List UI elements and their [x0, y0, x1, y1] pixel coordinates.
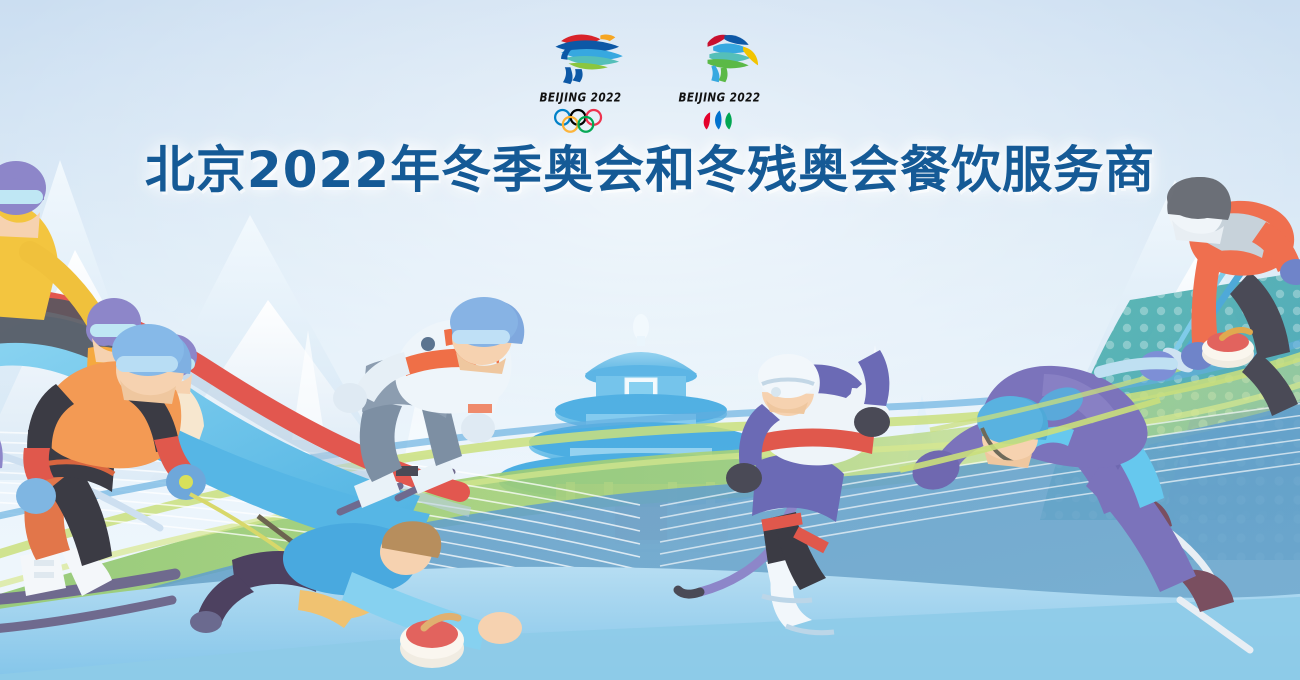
agitos-icon [672, 107, 767, 133]
page-title: 北京2022年冬季奥会和冬残奥会餐饮服务商 [145, 143, 1155, 197]
olympic-banner: BEIJING 2022 [0, 0, 1300, 680]
paralympic-emblem: BEIJING 2022 [672, 28, 767, 138]
paralympic-wordmark: BEIJING 2022 [672, 91, 767, 105]
paralympic-mark-icon [672, 28, 775, 86]
olympic-mark-icon [533, 28, 636, 86]
olympic-rings-icon [533, 107, 628, 133]
olympic-emblem: BEIJING 2022 [533, 28, 628, 138]
athlete-curler-delivering [190, 516, 522, 668]
athlete-ice-hockey-player [678, 350, 890, 633]
olympic-wordmark: BEIJING 2022 [533, 91, 628, 105]
emblem-row: BEIJING 2022 [0, 28, 1300, 138]
athlete-speed-skater [900, 352, 1250, 650]
page-title-wrap: 北京2022年冬季奥会和冬残奥会餐饮服务商 [0, 143, 1300, 197]
